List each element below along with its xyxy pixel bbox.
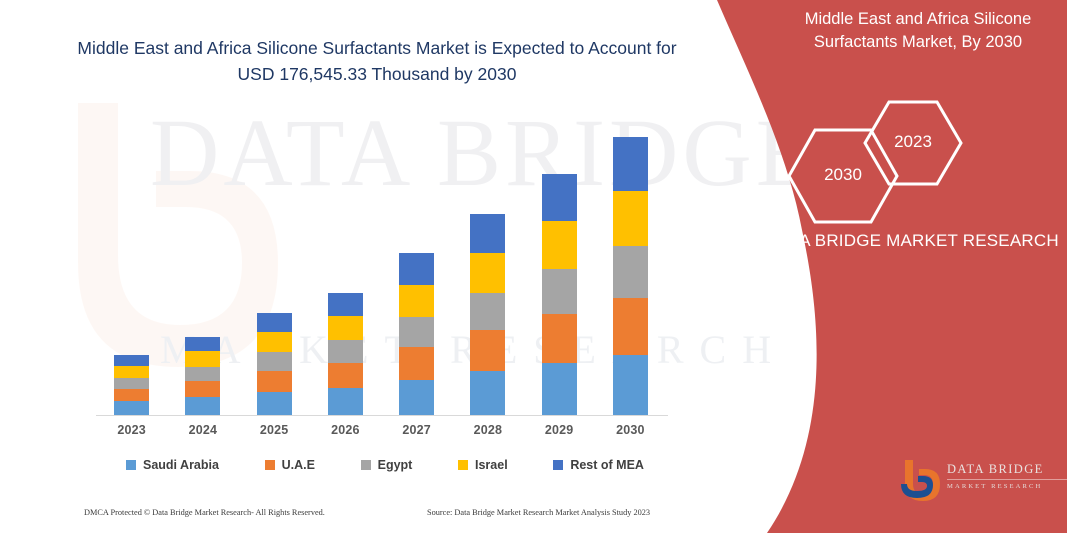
x-axis-label-2029: 2029 bbox=[524, 423, 595, 445]
legend-item-rest-of-mea[interactable]: Rest of MEA bbox=[553, 458, 644, 472]
logo-subtitle: MARKET RESEARCH bbox=[947, 483, 1067, 490]
bar-segment-israel bbox=[114, 366, 149, 378]
footer: DMCA Protected © Data Bridge Market Rese… bbox=[0, 508, 700, 530]
bar-segment-u-a-e bbox=[114, 389, 149, 401]
bar-segment-saudi-arabia bbox=[613, 355, 648, 415]
x-axis-labels: 20232024202520262027202820292030 bbox=[96, 423, 666, 445]
bar-segment-u-a-e bbox=[399, 347, 434, 380]
legend-swatch-icon bbox=[126, 460, 136, 470]
brand-logo: DATA BRIDGE MARKET RESEARCH bbox=[899, 455, 1067, 507]
infographic-page: DATA BRIDGE MARKET RESEARCH Middle East … bbox=[0, 0, 1067, 533]
bar-segment-egypt bbox=[399, 317, 434, 347]
legend-swatch-icon bbox=[553, 460, 563, 470]
stacked-bar bbox=[542, 174, 577, 415]
hexagon-2023: 2023 bbox=[863, 98, 963, 188]
bar-segment-egypt bbox=[542, 269, 577, 314]
hexagon-2023-label: 2023 bbox=[863, 132, 963, 152]
legend-item-u-a-e[interactable]: U.A.E bbox=[265, 458, 315, 472]
chart-legend: Saudi ArabiaU.A.EEgyptIsraelRest of MEA bbox=[96, 453, 668, 477]
legend-swatch-icon bbox=[458, 460, 468, 470]
legend-swatch-icon bbox=[361, 460, 371, 470]
bar-column-2029 bbox=[524, 110, 595, 415]
stacked-bar bbox=[185, 337, 220, 415]
x-axis-line bbox=[96, 415, 668, 416]
bar-segment-saudi-arabia bbox=[470, 371, 505, 415]
bar-column-2026 bbox=[310, 110, 381, 415]
x-axis-label-2030: 2030 bbox=[595, 423, 666, 445]
bar-segment-israel bbox=[185, 351, 220, 367]
stacked-bar bbox=[470, 214, 505, 415]
panel-title: Middle East and Africa Silicone Surfacta… bbox=[777, 8, 1059, 55]
bar-segment-saudi-arabia bbox=[399, 380, 434, 415]
x-axis-label-2028: 2028 bbox=[452, 423, 523, 445]
bar-segment-rest-of-mea bbox=[328, 293, 363, 316]
bar-segment-saudi-arabia bbox=[185, 397, 220, 415]
bar-column-2024 bbox=[167, 110, 238, 415]
hexagon-group: 2030 2023 bbox=[787, 98, 1057, 213]
bar-segment-egypt bbox=[328, 340, 363, 363]
footer-copyright: DMCA Protected © Data Bridge Market Rese… bbox=[84, 508, 325, 517]
bar-segment-rest-of-mea bbox=[257, 313, 292, 332]
bar-segment-egypt bbox=[613, 246, 648, 298]
chart-region: Middle East and Africa Silicone Surfacta… bbox=[0, 0, 720, 533]
legend-swatch-icon bbox=[265, 460, 275, 470]
page-title: Middle East and Africa Silicone Surfacta… bbox=[72, 36, 682, 87]
bar-segment-israel bbox=[470, 253, 505, 293]
bar-segment-rest-of-mea bbox=[114, 355, 149, 366]
stacked-bar bbox=[399, 253, 434, 415]
logo-title: DATA BRIDGE bbox=[947, 463, 1067, 480]
x-axis-label-2023: 2023 bbox=[96, 423, 167, 445]
bar-segment-israel bbox=[613, 191, 648, 246]
bar-segment-egypt bbox=[114, 378, 149, 389]
bar-column-2025 bbox=[239, 110, 310, 415]
legend-label: Israel bbox=[475, 458, 508, 472]
x-axis-label-2024: 2024 bbox=[167, 423, 238, 445]
stacked-bar bbox=[114, 355, 149, 415]
bar-segment-egypt bbox=[470, 293, 505, 330]
bar-segment-rest-of-mea bbox=[542, 174, 577, 221]
brand-panel-content: Middle East and Africa Silicone Surfacta… bbox=[687, 0, 1067, 533]
bar-segment-u-a-e bbox=[470, 330, 505, 371]
bar-segment-u-a-e bbox=[185, 381, 220, 397]
x-axis-label-2026: 2026 bbox=[310, 423, 381, 445]
bar-segment-egypt bbox=[185, 367, 220, 381]
legend-item-egypt[interactable]: Egypt bbox=[361, 458, 413, 472]
bar-segment-israel bbox=[257, 332, 292, 352]
logo-text-block: DATA BRIDGE MARKET RESEARCH bbox=[947, 463, 1067, 490]
bar-segment-saudi-arabia bbox=[114, 401, 149, 415]
bar-segment-saudi-arabia bbox=[542, 363, 577, 415]
stacked-bar bbox=[328, 293, 363, 415]
legend-label: Rest of MEA bbox=[570, 458, 644, 472]
bar-column-2027 bbox=[381, 110, 452, 415]
legend-item-israel[interactable]: Israel bbox=[458, 458, 508, 472]
bar-segment-u-a-e bbox=[542, 314, 577, 363]
stacked-bar bbox=[613, 137, 648, 415]
bar-segment-rest-of-mea bbox=[399, 253, 434, 285]
bar-segment-saudi-arabia bbox=[257, 392, 292, 415]
x-axis-label-2027: 2027 bbox=[381, 423, 452, 445]
bar-segment-rest-of-mea bbox=[185, 337, 220, 351]
logo-mark-icon bbox=[899, 458, 943, 502]
bar-segment-u-a-e bbox=[257, 371, 292, 392]
bar-segment-saudi-arabia bbox=[328, 388, 363, 415]
legend-item-saudi-arabia[interactable]: Saudi Arabia bbox=[126, 458, 219, 472]
x-axis-label-2025: 2025 bbox=[239, 423, 310, 445]
bar-segment-israel bbox=[328, 316, 363, 340]
bar-column-2028 bbox=[452, 110, 523, 415]
stacked-bar bbox=[257, 313, 292, 415]
bar-segment-egypt bbox=[257, 352, 292, 371]
legend-label: Egypt bbox=[378, 458, 413, 472]
bar-segment-u-a-e bbox=[613, 298, 648, 355]
legend-label: U.A.E bbox=[282, 458, 315, 472]
bar-segment-u-a-e bbox=[328, 363, 363, 388]
bar-column-2030 bbox=[595, 110, 666, 415]
brand-name: DATA BRIDGE MARKET RESEARCH bbox=[767, 228, 1059, 254]
bar-column-2023 bbox=[96, 110, 167, 415]
legend-label: Saudi Arabia bbox=[143, 458, 219, 472]
bar-segment-israel bbox=[542, 221, 577, 269]
footer-source: Source: Data Bridge Market Research Mark… bbox=[427, 508, 650, 517]
bar-segment-israel bbox=[399, 285, 434, 317]
bar-segment-rest-of-mea bbox=[613, 137, 648, 191]
bar-segment-rest-of-mea bbox=[470, 214, 505, 253]
stacked-bar-chart bbox=[96, 110, 666, 415]
